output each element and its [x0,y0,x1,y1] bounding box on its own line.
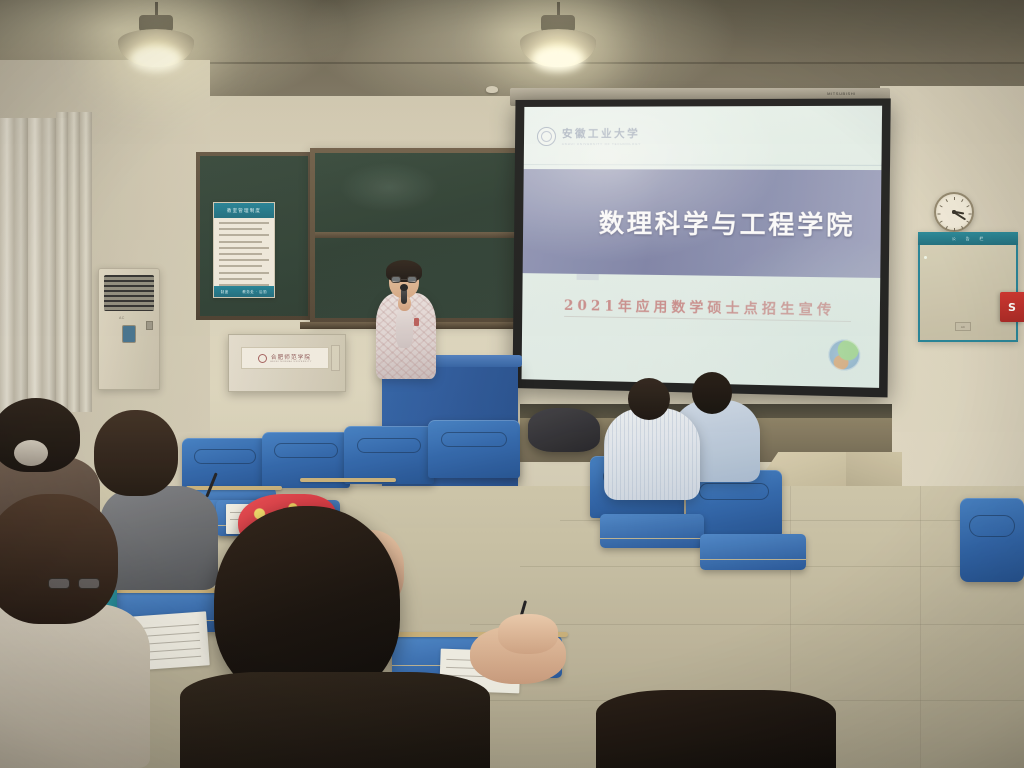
poster-footer: 制度 教务处 · 后勤 [214,286,274,297]
seat-far-right[interactable] [960,498,1024,582]
seat-backrest-slot [194,449,256,464]
desk-edge [600,538,704,548]
light-glow [532,46,584,72]
student-left-3-torso [0,604,150,768]
paper-text-line [135,624,199,629]
attendee-blue-shirt-right-head [692,372,732,414]
hair-scrunchie [14,440,48,466]
poster-text-line [219,253,262,255]
poster-header-text: 教室管理制度 [227,208,261,214]
university-seal-icon [537,126,556,145]
bulletin-header-char: 栏 [979,236,984,242]
student-bottom-right [596,690,836,768]
clock-tick [945,226,947,229]
clock-tick [945,199,947,202]
wall-plate-label: AC [961,325,965,329]
desk-right-2 [700,534,806,570]
university-name-block: 安徽工业大学 ANHUI UNIVERSITY OF TECHNOLOGY [562,126,641,146]
podium-name-english: HEFEI NORMAL UNIVERSITY [270,361,312,363]
bulletin-board-pin [924,256,927,259]
university-name-chinese: 安徽工业大学 [562,126,641,141]
floor-tile-line [920,486,921,768]
poster-text-line [219,259,269,261]
bulletin-header-char: 告 [966,236,971,242]
poster-text-line [219,234,269,236]
projector-brand-label: MITSUBISHI [827,91,856,96]
ac-brand-label: AC [119,316,125,320]
poster-body [214,218,274,294]
poster-text-line [219,272,269,274]
light-glow [130,46,182,72]
seat-backrest-slot [357,438,422,453]
poster-text-line [219,265,262,267]
seat-backrest-slot [969,515,1015,537]
seat-backrest-slot [441,432,507,447]
clock-tick [961,199,963,202]
ac-display-panel[interactable] [122,325,136,343]
speaker-podium: 合肥师范学院 HEFEI NORMAL UNIVERSITY [228,334,346,392]
presentation-slide: 安徽工业大学 ANHUI UNIVERSITY OF TECHNOLOGY 数理… [522,106,883,388]
poster-text-line [219,241,262,243]
poster-text-line [219,228,262,230]
podium-seal-icon [258,354,267,363]
presenter-glasses-icon [391,276,417,283]
desk-rail [186,486,282,490]
blackboard-glare [341,163,438,213]
poster-text-line [219,247,269,249]
bulletin-board-header: 公 告 栏 [918,232,1018,245]
desk-rail [300,478,396,482]
wall-poster-rules: 教室管理制度 制度 教务处 · 后勤 [213,202,275,298]
poster-text-line [219,222,269,224]
clock-center-pin [952,210,955,213]
podium-side-panel [331,345,340,371]
podium-name-block: 合肥师范学院 HEFEI NORMAL UNIVERSITY [270,353,312,363]
clock-tick [954,197,955,200]
presenter-arm [396,306,413,348]
projection-screen: 安徽工业大学 ANHUI UNIVERSITY OF TECHNOLOGY 数理… [513,98,891,397]
student-foreground-hand [498,614,558,654]
pendant-light-right [520,2,596,72]
seat-back-3[interactable] [344,426,434,484]
podium-name-chinese: 合肥师范学院 [271,353,311,361]
seat-backrest-slot [699,483,768,500]
student-foreground-torso [180,672,490,768]
poster-footer-right: 教务处 · 后勤 [242,289,267,294]
slide-header-divider [524,164,882,166]
university-name-english: ANHUI UNIVERSITY OF TECHNOLOGY [562,142,641,146]
clock-tick [966,205,969,207]
presenter-shirt-pocket [414,318,419,326]
wall-clock [934,192,974,232]
wall-control-plate[interactable]: AC [955,322,971,331]
student-left-3-glasses-icon [48,578,100,589]
microphone-head [400,284,408,291]
clock-tick [939,221,942,223]
smoke-detector-icon [486,86,498,93]
emergency-exit-sign: S [1000,292,1024,322]
podium-name-plate: 合肥师范学院 HEFEI NORMAL UNIVERSITY [241,347,329,369]
clock-tick [961,226,963,229]
blackboard-panel [315,153,531,318]
window-curtain [56,112,92,412]
slide-title-band: 数理科学与工程学院 [523,169,882,278]
desk-edge [700,559,806,570]
floor-air-conditioner[interactable]: AC [98,268,160,390]
exit-sign-glyph: S [1008,301,1016,314]
department-globe-emblem-icon [828,339,860,371]
poster-header: 教室管理制度 [214,203,274,218]
slide-title: 数理科学与工程学院 [599,204,856,243]
black-backpack [528,408,600,452]
clock-tick [954,228,955,231]
desk-right-1 [600,514,704,548]
poster-text-line [219,278,262,280]
clock-tick [939,205,942,207]
clock-tick [966,221,969,223]
bulletin-header-char: 公 [952,236,957,242]
seat-backrest-slot [274,443,337,458]
ac-vent-grille [104,275,154,311]
seat-back-4[interactable] [428,420,520,478]
lecture-hall-scene: 教室管理制度 制度 教务处 · 后勤 AC MITSUBISHI [0,0,1024,768]
slide-logo-row: 安徽工业大学 ANHUI UNIVERSITY OF TECHNOLOGY [524,106,882,166]
poster-footer-left: 制度 [221,289,229,294]
spacer [108,392,116,400]
clock-tick [937,214,940,215]
clock-tick [968,214,971,215]
ac-indicator-light [146,321,153,330]
student-back-of-head-left-2 [94,410,178,496]
pendant-light-left [118,2,194,72]
attendee-white-shirt-right-head [628,378,670,420]
student-back-of-head-left-3 [0,494,118,624]
attendee-white-shirt-right-torso [604,408,700,500]
